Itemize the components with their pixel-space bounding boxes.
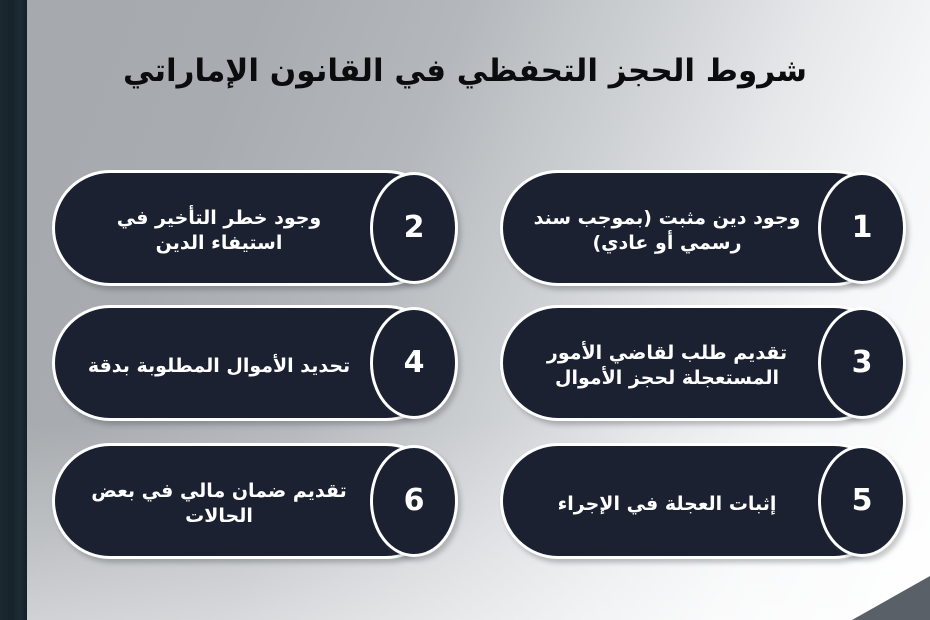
condition-number-bubble-2: 2 [370, 172, 458, 284]
condition-number-4: 4 [404, 348, 425, 378]
condition-label-6: تقديم ضمان مالي في بعض الحالات [77, 446, 361, 562]
condition-label-2: وجود خطر التأخير في استيفاء الدين [77, 173, 361, 289]
condition-number-bubble-6: 6 [370, 445, 458, 557]
condition-number-bubble-5: 5 [818, 445, 906, 557]
condition-label-5: إثبات العجلة في الإجراء [525, 446, 809, 562]
condition-item-4[interactable]: تحديد الأموال المطلوبة بدقة 4 [52, 305, 444, 421]
condition-item-5[interactable]: إثبات العجلة في الإجراء 5 [500, 443, 892, 559]
condition-number-6: 6 [404, 486, 425, 516]
condition-number-bubble-4: 4 [370, 307, 458, 419]
condition-item-6[interactable]: تقديم ضمان مالي في بعض الحالات 6 [52, 443, 444, 559]
condition-label-1: وجود دين مثبت (بموجب سند رسمي أو عادي) [525, 173, 809, 289]
condition-number-1: 1 [852, 213, 873, 243]
condition-number-5: 5 [852, 486, 873, 516]
condition-label-3: تقديم طلب لقاضي الأمور المستعجلة لحجز ال… [525, 308, 809, 424]
condition-list: وجود دين مثبت (بموجب سند رسمي أو عادي) 1… [0, 0, 930, 620]
condition-number-bubble-1: 1 [818, 172, 906, 284]
condition-label-4: تحديد الأموال المطلوبة بدقة [77, 308, 361, 424]
condition-number-bubble-3: 3 [818, 307, 906, 419]
condition-item-2[interactable]: وجود خطر التأخير في استيفاء الدين 2 [52, 170, 444, 286]
condition-number-2: 2 [404, 213, 425, 243]
infographic-slide: شروط الحجز التحفظي في القانون الإماراتي … [0, 0, 930, 620]
condition-item-1[interactable]: وجود دين مثبت (بموجب سند رسمي أو عادي) 1 [500, 170, 892, 286]
condition-item-3[interactable]: تقديم طلب لقاضي الأمور المستعجلة لحجز ال… [500, 305, 892, 421]
condition-number-3: 3 [852, 348, 873, 378]
